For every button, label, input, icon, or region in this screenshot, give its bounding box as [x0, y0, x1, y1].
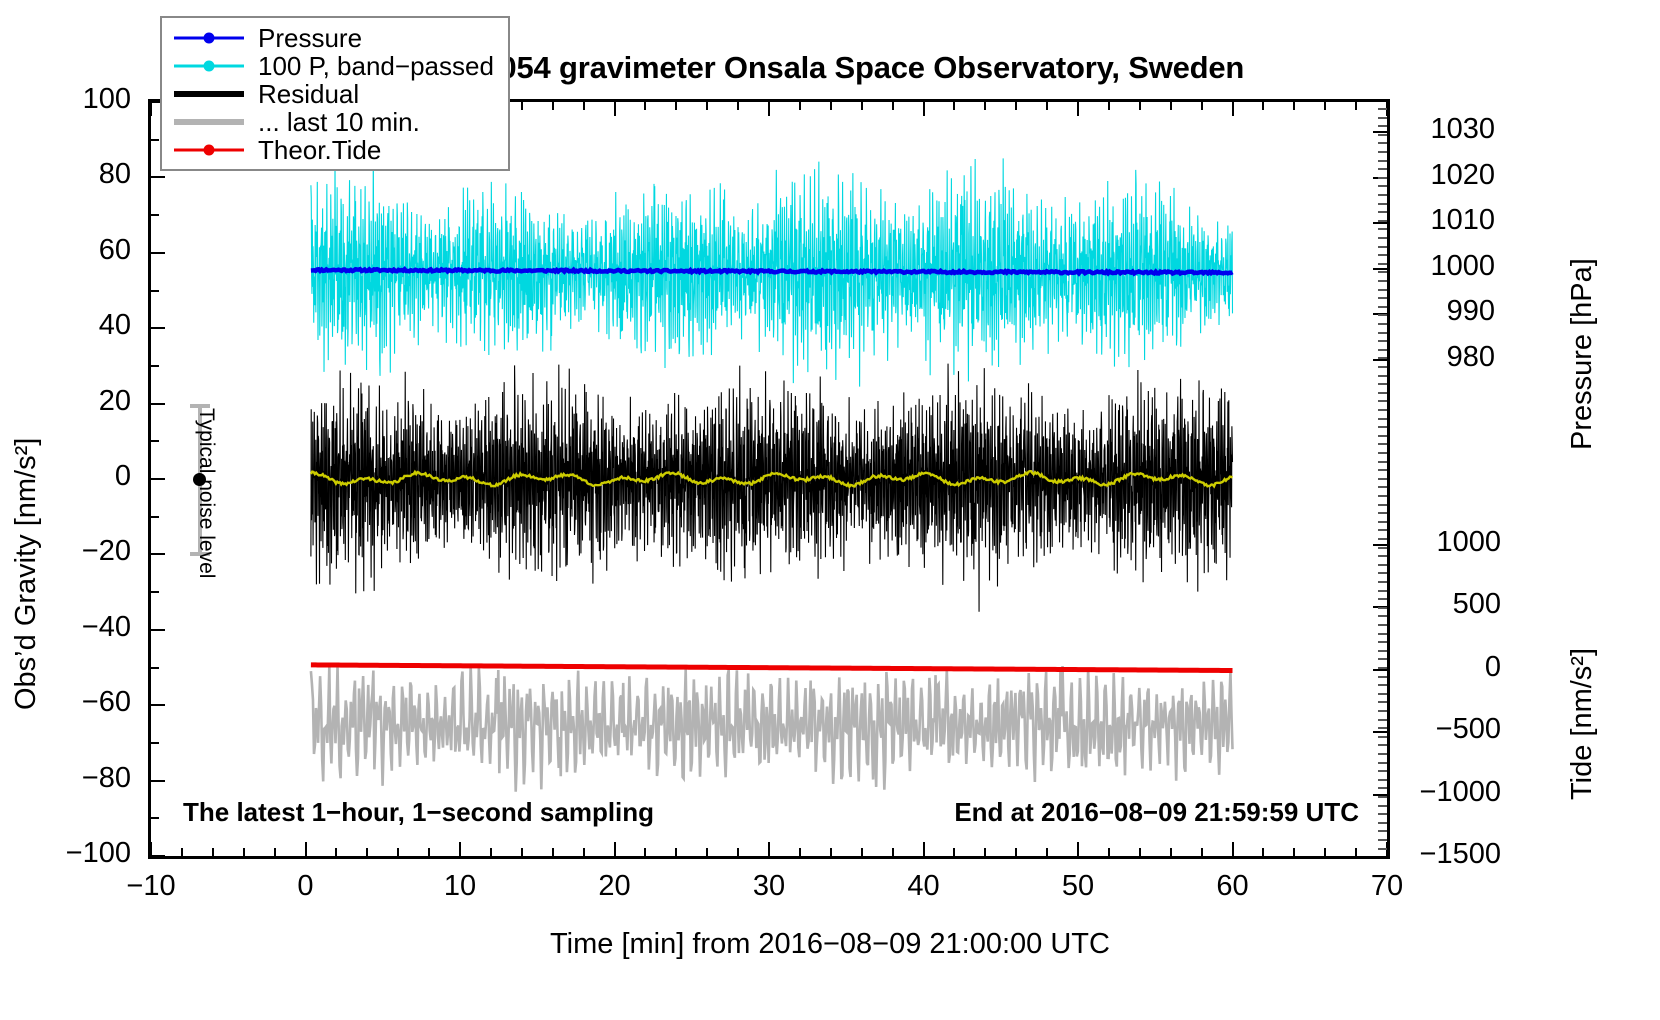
pressure-axis-tick [1373, 222, 1387, 224]
x-axis-tick [150, 842, 152, 856]
x-axis-minor-tick-top [1201, 102, 1203, 110]
x-axis-minor-tick-top [675, 102, 677, 110]
x-axis-tick-label: −10 [91, 870, 211, 903]
x-axis-minor-tick [1015, 848, 1017, 856]
legend-line [174, 119, 244, 125]
x-axis-minor-tick [1139, 848, 1141, 856]
x-axis-minor-tick [397, 848, 399, 856]
right-axis-minor-tick [1378, 822, 1387, 824]
legend-swatch-2 [170, 80, 248, 108]
tide-axis-tick [1373, 669, 1387, 671]
legend-item-last-10-min[interactable]: ... last 10 min. [170, 108, 500, 136]
right-axis-minor-tick [1378, 813, 1387, 815]
right-axis-minor-tick [1378, 581, 1387, 583]
pressure-axis-tick-label: 1000 [1405, 250, 1495, 283]
tide-axis-tick-label: 0 [1405, 651, 1501, 684]
chart-root: SCG_054 gravimeter Onsala Space Observat… [0, 0, 1660, 1020]
x-axis-tick-label: 50 [1018, 870, 1138, 903]
pressure-axis-tick-label: 1020 [1405, 159, 1495, 192]
y-axis-tick-label: −40 [0, 611, 131, 644]
legend-line [174, 91, 244, 97]
right-axis-minor-tick [1378, 719, 1387, 721]
right-axis-minor-tick [1378, 177, 1387, 179]
plot-area: The latest 1−hour, 1−second sampling End… [148, 99, 1390, 859]
y-axis-tick [151, 327, 165, 329]
x-axis-minor-tick [830, 848, 832, 856]
y-axis-tick-label: −20 [0, 535, 131, 568]
right-axis-minor-tick [1378, 117, 1387, 119]
pressure-axis-tick-label: 990 [1405, 295, 1495, 328]
right-axis-minor-tick [1378, 805, 1387, 807]
right-axis-minor-tick [1378, 185, 1387, 187]
right-axis-minor-tick [1378, 615, 1387, 617]
right-axis-minor-tick [1378, 667, 1387, 669]
x-axis-minor-tick [552, 848, 554, 856]
x-axis-minor-tick [521, 848, 523, 856]
series-theor-tide [311, 665, 1233, 671]
x-axis-minor-tick [984, 848, 986, 856]
x-axis-tick-top [150, 102, 152, 116]
x-axis-minor-tick [490, 848, 492, 856]
right-pressure-axis-title: Pressure [hPa] [1566, 258, 1599, 450]
x-axis-minor-tick-top [583, 102, 585, 110]
right-axis-minor-tick [1378, 323, 1387, 325]
x-axis-minor-tick-top [1139, 102, 1141, 110]
right-tide-axis-title: Tide [nm/s²] [1566, 648, 1599, 800]
x-axis-tick-label: 0 [246, 870, 366, 903]
right-axis-minor-tick [1378, 418, 1387, 420]
legend: Pressure100 P, band−passedResidual... la… [160, 16, 510, 171]
right-axis-minor-tick [1378, 753, 1387, 755]
x-axis-tick [459, 842, 461, 856]
y-axis-tick [151, 403, 165, 405]
right-axis-minor-tick [1378, 160, 1387, 162]
right-axis-minor-tick [1378, 194, 1387, 196]
x-axis-tick-top [614, 102, 616, 116]
right-axis-minor-tick [1378, 598, 1387, 600]
x-axis-minor-tick [1046, 848, 1048, 856]
x-axis-minor-tick-top [984, 102, 986, 110]
data-series-svg [151, 102, 1387, 856]
right-axis-minor-tick [1378, 254, 1387, 256]
y-axis-tick [151, 553, 165, 555]
x-axis-tick-label: 10 [400, 870, 520, 903]
right-axis-minor-tick [1378, 727, 1387, 729]
right-axis-minor-tick [1378, 142, 1387, 144]
tide-axis-tick [1373, 856, 1387, 858]
y-axis-tick-label: 20 [0, 385, 131, 418]
pressure-axis-tick-label: 1030 [1405, 113, 1495, 146]
right-axis-minor-tick [1378, 443, 1387, 445]
x-axis-minor-tick [706, 848, 708, 856]
right-axis-minor-tick [1378, 237, 1387, 239]
tide-axis-tick-label: −1000 [1405, 776, 1501, 809]
x-axis-minor-tick [1262, 848, 1264, 856]
right-axis-minor-tick [1378, 839, 1387, 841]
right-axis-minor-tick [1378, 676, 1387, 678]
right-axis-minor-tick [1378, 693, 1387, 695]
right-axis-minor-tick [1378, 650, 1387, 652]
legend-swatch-1 [170, 52, 248, 80]
x-axis-minor-tick [1293, 848, 1295, 856]
x-axis-minor-tick-top [861, 102, 863, 110]
y-axis-tick-label: 40 [0, 309, 131, 342]
x-axis-minor-tick-top [1293, 102, 1295, 110]
right-axis-minor-tick [1378, 409, 1387, 411]
right-axis-minor-tick [1378, 314, 1387, 316]
right-axis-minor-tick [1378, 787, 1387, 789]
right-axis-minor-tick [1378, 848, 1387, 850]
right-axis-minor-tick [1378, 529, 1387, 531]
right-axis-minor-tick [1378, 486, 1387, 488]
right-axis-minor-tick [1378, 572, 1387, 574]
right-axis-minor-tick [1378, 710, 1387, 712]
x-axis-minor-tick-top [552, 102, 554, 110]
y-axis-tick-label: 0 [0, 460, 131, 493]
right-axis-minor-tick [1378, 538, 1387, 540]
x-axis-minor-tick-top [1015, 102, 1017, 110]
legend-label: 100 P, band−passed [248, 52, 494, 80]
x-axis-tick-label: 30 [709, 870, 829, 903]
right-axis-minor-tick [1378, 271, 1387, 273]
right-axis-minor-tick [1378, 203, 1387, 205]
legend-swatch-3 [170, 108, 248, 136]
x-axis-minor-tick [861, 848, 863, 856]
x-axis-tick-label: 70 [1327, 870, 1447, 903]
x-axis-minor-tick [274, 848, 276, 856]
pressure-axis-tick-label: 980 [1405, 341, 1495, 374]
x-axis-minor-tick [1355, 848, 1357, 856]
legend-label: ... last 10 min. [248, 108, 420, 136]
right-axis-minor-tick [1378, 375, 1387, 377]
y-axis-tick [151, 176, 165, 178]
right-axis-minor-tick [1378, 504, 1387, 506]
legend-item-residual[interactable]: Residual [170, 80, 500, 108]
right-axis-minor-tick [1378, 633, 1387, 635]
x-axis-minor-tick-top [1108, 102, 1110, 110]
right-axis-minor-tick [1378, 684, 1387, 686]
x-axis-minor-tick [953, 848, 955, 856]
x-axis-minor-tick [892, 848, 894, 856]
legend-item-band-passed[interactable]: 100 P, band−passed [170, 52, 500, 80]
y-axis-minor-tick [151, 440, 159, 442]
right-axis-minor-tick [1378, 461, 1387, 463]
y-axis-tick-label: −100 [0, 837, 131, 870]
x-axis-minor-tick-top [1324, 102, 1326, 110]
right-axis-minor-tick [1378, 400, 1387, 402]
legend-item-theor-tide[interactable]: Theor.Tide [170, 136, 500, 164]
right-axis-minor-tick [1378, 744, 1387, 746]
x-axis-minor-tick [737, 848, 739, 856]
right-axis-minor-tick [1378, 151, 1387, 153]
legend-marker-dot [204, 61, 215, 72]
x-axis-tick [1232, 842, 1234, 856]
x-axis-minor-tick [1324, 848, 1326, 856]
x-axis-minor-tick-top [1170, 102, 1172, 110]
right-axis-minor-tick [1378, 624, 1387, 626]
legend-marker-dot [204, 145, 215, 156]
right-axis-minor-tick [1378, 211, 1387, 213]
legend-marker-dot [204, 33, 215, 44]
tide-axis-tick-label: −500 [1405, 713, 1501, 746]
x-axis-tick [923, 842, 925, 856]
x-axis-minor-tick-top [830, 102, 832, 110]
x-axis-minor-tick-top [1355, 102, 1357, 110]
x-axis-minor-tick [675, 848, 677, 856]
pressure-axis-tick-label: 1010 [1405, 204, 1495, 237]
x-axis-minor-tick-top [953, 102, 955, 110]
right-axis-minor-tick [1378, 555, 1387, 557]
tide-axis-tick-label: 1000 [1405, 526, 1501, 559]
right-axis-minor-tick [1378, 280, 1387, 282]
y-axis-minor-tick [151, 365, 159, 367]
right-axis-minor-tick [1378, 607, 1387, 609]
right-axis-minor-tick [1378, 779, 1387, 781]
right-axis-minor-tick [1378, 658, 1387, 660]
right-axis-minor-tick [1378, 297, 1387, 299]
legend-swatch-4 [170, 136, 248, 164]
right-axis-minor-tick [1378, 263, 1387, 265]
series-residual [311, 364, 1233, 612]
x-axis-tick [614, 842, 616, 856]
x-axis-tick-top [768, 102, 770, 116]
right-axis-minor-tick [1378, 340, 1387, 342]
y-axis-tick [151, 252, 165, 254]
footer-right-text: End at 2016−08−09 21:59:59 UTC [954, 797, 1359, 828]
x-axis-minor-tick-top [799, 102, 801, 110]
right-axis-minor-tick [1378, 168, 1387, 170]
x-axis-tick [768, 842, 770, 856]
x-axis-minor-tick [212, 848, 214, 856]
x-axis-minor-tick [366, 848, 368, 856]
legend-swatch-0 [170, 24, 248, 52]
x-axis-minor-tick-top [706, 102, 708, 110]
x-axis-tick-label: 40 [864, 870, 984, 903]
tide-axis-tick-label: −1500 [1405, 838, 1501, 871]
y-axis-minor-tick [151, 516, 159, 518]
y-axis-tick [151, 629, 165, 631]
y-axis-minor-tick [151, 742, 159, 744]
right-axis-minor-tick [1378, 246, 1387, 248]
x-axis-tick-label: 20 [555, 870, 675, 903]
x-axis-minor-tick-top [1262, 102, 1264, 110]
legend-item-pressure[interactable]: Pressure [170, 24, 500, 52]
right-axis-minor-tick [1378, 426, 1387, 428]
noise-bar-label: Typical noise level [194, 408, 218, 578]
right-axis-minor-tick [1378, 796, 1387, 798]
y-axis-minor-tick [151, 817, 159, 819]
y-axis-tick [151, 704, 165, 706]
x-axis-tick-label: 60 [1173, 870, 1293, 903]
right-axis-minor-tick [1378, 547, 1387, 549]
right-axis-minor-tick [1378, 228, 1387, 230]
x-axis-minor-tick-top [644, 102, 646, 110]
x-axis-minor-tick [1201, 848, 1203, 856]
y-axis-tick-label: 100 [0, 83, 131, 116]
right-axis-minor-tick [1378, 762, 1387, 764]
right-axis-minor-tick [1378, 220, 1387, 222]
legend-label: Pressure [248, 24, 362, 52]
x-axis-minor-tick [644, 848, 646, 856]
right-axis-minor-tick [1378, 289, 1387, 291]
x-axis-minor-tick [583, 848, 585, 856]
right-axis-minor-tick [1378, 357, 1387, 359]
right-axis-minor-tick [1378, 830, 1387, 832]
y-axis-tick-label: −60 [0, 686, 131, 719]
y-axis-minor-tick [151, 667, 159, 669]
series-last-10-min [311, 665, 1233, 792]
x-axis-tick [1077, 842, 1079, 856]
right-axis-minor-tick [1378, 590, 1387, 592]
y-axis-tick [151, 855, 165, 857]
y-axis-tick [151, 780, 165, 782]
right-axis-minor-tick [1378, 366, 1387, 368]
right-axis-minor-tick [1378, 383, 1387, 385]
y-axis-minor-tick [151, 591, 159, 593]
x-axis-minor-tick [428, 848, 430, 856]
pressure-axis-tick [1373, 131, 1387, 133]
y-axis-tick-label: 80 [0, 158, 131, 191]
right-axis-minor-tick [1378, 564, 1387, 566]
right-axis-minor-tick [1378, 469, 1387, 471]
y-axis-minor-tick [151, 290, 159, 292]
right-axis-minor-tick [1378, 332, 1387, 334]
right-axis-minor-tick [1378, 641, 1387, 643]
right-axis-minor-tick [1378, 521, 1387, 523]
x-axis-minor-tick [799, 848, 801, 856]
x-axis-minor-tick-top [1046, 102, 1048, 110]
tide-axis-tick [1373, 731, 1387, 733]
right-axis-minor-tick [1378, 392, 1387, 394]
x-axis-minor-tick [335, 848, 337, 856]
x-axis-minor-tick [1170, 848, 1172, 856]
y-axis-tick-label: −80 [0, 762, 131, 795]
x-axis-minor-tick [1108, 848, 1110, 856]
x-axis-minor-tick-top [737, 102, 739, 110]
right-axis-minor-tick [1378, 134, 1387, 136]
right-axis-minor-tick [1378, 452, 1387, 454]
y-axis-tick [151, 478, 165, 480]
right-axis-minor-tick [1378, 306, 1387, 308]
y-axis-minor-tick [151, 139, 159, 141]
x-axis-minor-tick [243, 848, 245, 856]
right-axis-minor-tick [1378, 701, 1387, 703]
footer-left-text: The latest 1−hour, 1−second sampling [183, 797, 654, 828]
right-axis-minor-tick [1378, 125, 1387, 127]
right-axis-minor-tick [1378, 349, 1387, 351]
x-axis-tick [305, 842, 307, 856]
right-axis-minor-tick [1378, 435, 1387, 437]
legend-label: Theor.Tide [248, 136, 381, 164]
right-axis-minor-tick [1378, 770, 1387, 772]
x-axis-tick-top [1077, 102, 1079, 116]
bottom-axis-title: Time [min] from 2016−08−09 21:00:00 UTC [0, 928, 1660, 961]
x-axis-minor-tick [181, 848, 183, 856]
right-axis-minor-tick [1378, 512, 1387, 514]
pressure-axis-tick [1373, 268, 1387, 270]
x-axis-tick-top [1232, 102, 1234, 116]
y-axis-tick-label: 60 [0, 234, 131, 267]
y-axis-minor-tick [151, 214, 159, 216]
right-axis-minor-tick [1378, 108, 1387, 110]
x-axis-minor-tick-top [521, 102, 523, 110]
tide-axis-tick-label: 500 [1405, 588, 1501, 621]
right-axis-minor-tick [1378, 495, 1387, 497]
x-axis-minor-tick-top [892, 102, 894, 110]
right-axis-minor-tick [1378, 478, 1387, 480]
legend-label: Residual [248, 80, 359, 108]
x-axis-tick-top [923, 102, 925, 116]
right-axis-minor-tick [1378, 736, 1387, 738]
